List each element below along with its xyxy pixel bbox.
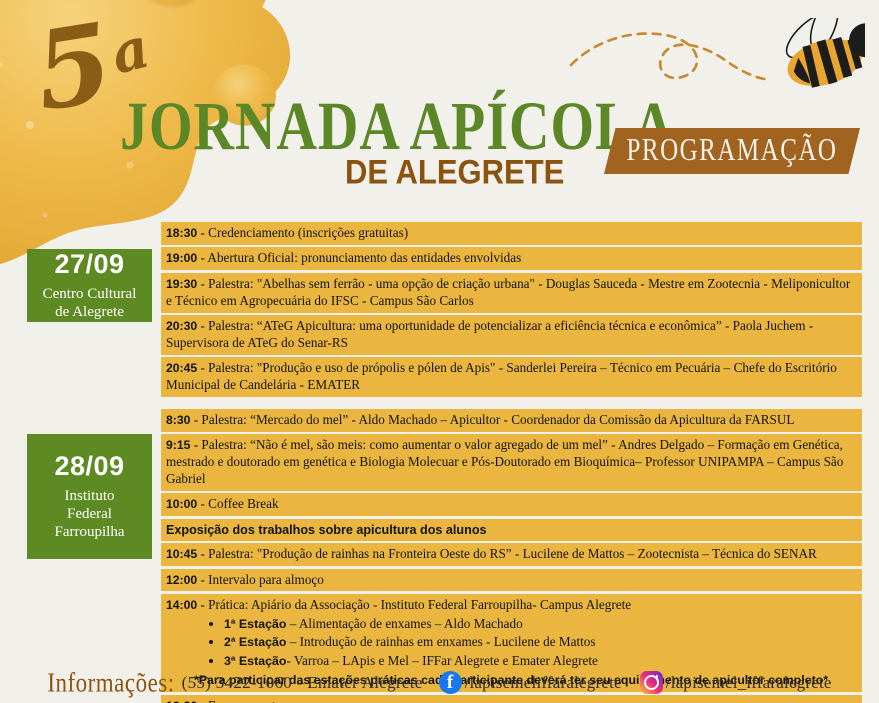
instagram-dot bbox=[656, 675, 659, 678]
bullet-text: – Introdução de rainhas em enxames - Luc… bbox=[286, 634, 595, 649]
venue-line: Centro Cultural bbox=[43, 286, 137, 304]
schedule-row: 20:30 - Palestra: “ATeG Apicultura: uma … bbox=[158, 315, 862, 355]
venue-label-day2: Instituto Federal Farroupilha bbox=[55, 488, 125, 541]
schedule-row: Exposição dos trabalhos sobre apicultura… bbox=[158, 519, 862, 541]
schedule-row-text: - Palestra: “ATeG Apicultura: uma oportu… bbox=[166, 318, 813, 350]
ordinal-suffix: a bbox=[105, 15, 156, 88]
venue-line: Farroupilha bbox=[55, 524, 125, 542]
venue-line: Instituto bbox=[55, 488, 125, 506]
bullet-label: 1ª Estação bbox=[224, 617, 286, 631]
schedule-row-text: - Coffee Break bbox=[197, 496, 278, 511]
bullet-text: – Alimentação de enxames – Aldo Machado bbox=[286, 616, 522, 631]
poster-root: 5 a JORNADA APÍCOLA DE ALEGRETE PROGRAMA… bbox=[0, 0, 879, 703]
schedule-row-time: 10:45 bbox=[166, 547, 197, 561]
schedule-row-time: 14:00 bbox=[166, 598, 197, 612]
schedule-day-1: 18:30 - Credenciamento (inscrições gratu… bbox=[158, 222, 862, 397]
schedule-row-time: 19:30 bbox=[166, 277, 197, 291]
schedule-row-text: - Abertura Oficial: pronunciamento das e… bbox=[197, 250, 521, 265]
schedule-row-text: - Palestra: “Não é mel, são meis: como a… bbox=[166, 437, 843, 486]
schedule-row: 18:30 - Credenciamento (inscrições gratu… bbox=[158, 222, 862, 245]
schedule-row-text: - Palestra: "Produção de rainhas na Fron… bbox=[197, 546, 817, 561]
schedule-row: 8:30 - Palestra: “Mercado do mel” - Aldo… bbox=[158, 409, 862, 432]
schedule-row-time: 18:30 bbox=[166, 226, 197, 240]
schedule-row-time: 8:30 bbox=[166, 413, 190, 427]
schedule-row: 20:45 - Palestra: "Produção e uso de pró… bbox=[158, 357, 862, 397]
day-separator bbox=[158, 400, 862, 409]
instagram-handle[interactable]: /lapisemel_iffaralegrete bbox=[666, 673, 832, 693]
bee-icon bbox=[565, 18, 865, 123]
schedule-row: 19:00 - Abertura Oficial: pronunciamento… bbox=[158, 247, 862, 270]
schedule-row-time: 20:30 bbox=[166, 319, 197, 333]
footer-phone: (55) 3422-1060 - Emater Alegrete bbox=[182, 673, 423, 693]
facebook-icon[interactable]: f bbox=[439, 671, 462, 694]
schedule-day-2: 8:30 - Palestra: “Mercado do mel” - Aldo… bbox=[158, 409, 862, 703]
date-box-day2: 28/09 Instituto Federal Farroupilha bbox=[27, 434, 152, 559]
schedule-row-time: 10:00 bbox=[166, 497, 197, 511]
schedule-row: 9:15 - Palestra: “Não é mel, são meis: c… bbox=[158, 434, 862, 491]
date-box-day1: 27/09 Centro Cultural de Alegrete bbox=[27, 249, 152, 322]
schedule-row: 10:45 - Palestra: "Produção de rainhas n… bbox=[158, 543, 862, 566]
footer-label: Informações: bbox=[47, 667, 174, 698]
schedule-row-time: 12:00 bbox=[166, 573, 197, 587]
date-label-day2: 28/09 bbox=[54, 451, 124, 482]
list-item: 1ª Estação – Alimentação de enxames – Al… bbox=[224, 616, 856, 633]
instagram-icon[interactable] bbox=[640, 671, 663, 694]
date-label-day1: 27/09 bbox=[54, 249, 124, 280]
schedule-row-time: 19:00 bbox=[166, 251, 197, 265]
page-subtitle: DE ALEGRETE bbox=[345, 152, 564, 192]
honey-droplet bbox=[136, 0, 208, 4]
venue-line: Federal bbox=[55, 506, 125, 524]
venue-line: de Alegrete bbox=[43, 304, 137, 322]
schedule-row-time: 9:15 bbox=[166, 438, 190, 452]
bullet-label: 2ª Estação bbox=[224, 635, 286, 649]
schedule-row: 19:30 - Palestra: "Abelhas sem ferrão - … bbox=[158, 273, 862, 313]
schedule-row-text: - Prática: Apiário da Associação - Insti… bbox=[197, 597, 631, 612]
schedule-row-text: - Palestra: "Produção e uso de própolis … bbox=[166, 360, 837, 392]
schedule-row: 12:00 - Intervalo para almoço bbox=[158, 569, 862, 592]
schedule-row: 10:00 - Coffee Break bbox=[158, 493, 862, 516]
footer-contact-bar: Informações: (55) 3422-1060 - Emater Ale… bbox=[0, 662, 879, 703]
ordinal-number: 5 bbox=[28, 9, 115, 127]
schedule-table: 18:30 - Credenciamento (inscrições gratu… bbox=[158, 222, 862, 703]
list-item: 2ª Estação – Introdução de rainhas em en… bbox=[224, 634, 856, 651]
schedule-row-text: - Palestra: "Abelhas sem ferrão - uma op… bbox=[166, 276, 850, 308]
schedule-row-text: - Palestra: “Mercado do mel” - Aldo Mach… bbox=[190, 412, 794, 427]
programacao-banner-label: PROGRAMAÇÃO bbox=[627, 133, 838, 169]
programacao-banner: PROGRAMAÇÃO bbox=[604, 128, 860, 174]
schedule-row-text: - Credenciamento (inscrições gratuitas) bbox=[197, 225, 408, 240]
facebook-handle[interactable]: /lapisemeliffaralegrete bbox=[465, 673, 622, 693]
venue-label-day1: Centro Cultural de Alegrete bbox=[43, 286, 137, 321]
schedule-row-headline: Exposição dos trabalhos sobre apicultura… bbox=[166, 523, 487, 537]
schedule-row-text: - Intervalo para almoço bbox=[197, 572, 324, 587]
schedule-row-time: 20:45 bbox=[166, 361, 197, 375]
